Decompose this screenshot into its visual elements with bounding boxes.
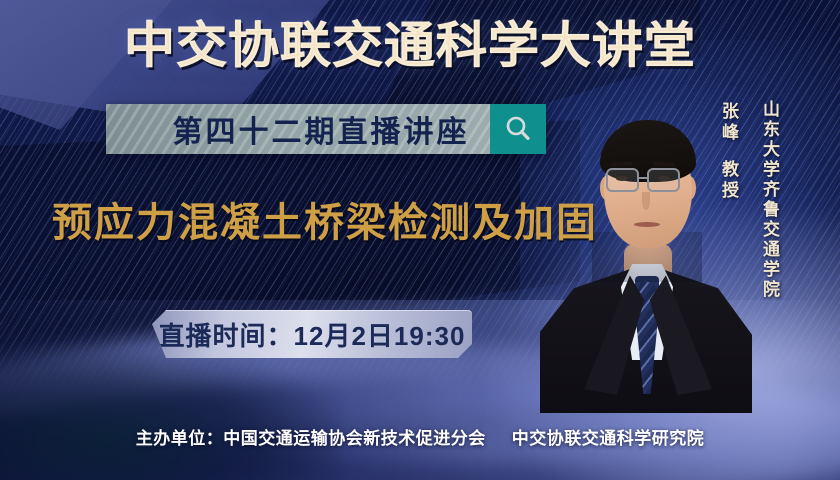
schedule-text: 直播时间：12月2日19:30 — [159, 316, 466, 353]
speaker-role: 教授 — [716, 160, 741, 202]
footer-organizers: 主办单位：中国交通运输协会新技术促进分会中交协联交通科学研究院 — [0, 424, 840, 449]
lecture-title: 预应力混凝土桥梁检测及加固 — [52, 190, 572, 248]
portrait-eyeglass-bridge — [639, 177, 649, 179]
episode-label: 第四十二期直播讲座 — [127, 107, 470, 151]
silk-shadow-left — [0, 350, 340, 480]
speaker-portrait — [546, 106, 746, 406]
footer-prefix: 主办单位： — [136, 429, 224, 448]
portrait-eyeglass-lens-right — [647, 168, 680, 192]
speaker-name: 张峰 — [716, 102, 741, 144]
episode-band-body: 第四十二期直播讲座 — [106, 104, 490, 154]
footer-organizer-2: 中交协联交通科学研究院 — [512, 429, 705, 448]
webinar-poster: 中交协联交通科学大讲堂 第四十二期直播讲座 预应力混凝土桥梁检测及加固 直播时间… — [0, 0, 840, 480]
footer-organizer-1: 中国交通运输协会新技术促进分会 — [223, 429, 486, 448]
search-icon — [503, 114, 533, 144]
page-title: 中交协联交通科学大讲堂 — [124, 18, 727, 74]
portrait-nose — [642, 192, 650, 210]
portrait-eyeglass-lens-left — [606, 168, 639, 192]
search-icon-tile[interactable] — [490, 104, 546, 154]
episode-band: 第四十二期直播讲座 — [106, 104, 546, 154]
portrait-mouth — [634, 222, 660, 227]
speaker-organization: 山东大学齐鲁交通学院 — [757, 100, 782, 300]
schedule-banner: 直播时间：12月2日19:30 — [152, 310, 472, 358]
